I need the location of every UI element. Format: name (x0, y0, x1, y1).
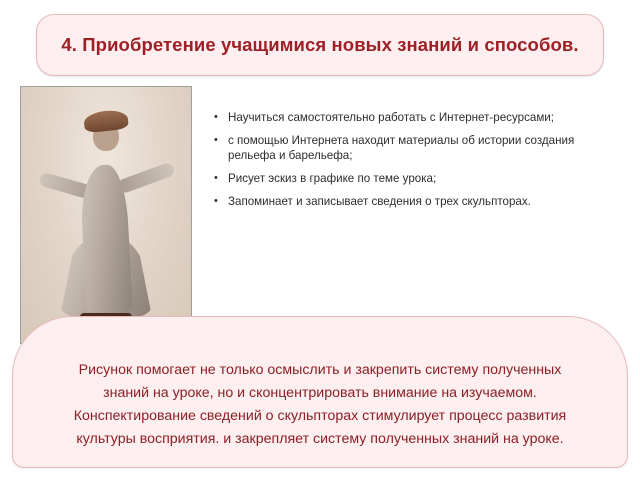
statue-arm-right-shape (116, 162, 175, 195)
summary-callout-text: Рисунок помогает не только осмыслить и з… (40, 333, 600, 451)
list-item: • Запоминает и записывает сведения о тре… (214, 194, 586, 209)
statue-photo-image (21, 87, 191, 343)
statue-hat-shape (83, 109, 129, 133)
title-banner: 4. Приобретение учащимися новых знаний и… (36, 14, 604, 76)
list-item: • Рисует эскиз в графике по теме урока; (214, 171, 586, 186)
list-item-text: Запоминает и записывает сведения о трех … (228, 194, 586, 209)
bullet-icon: • (214, 110, 228, 125)
summary-line-1: Рисунок помогает не только осмыслить и з… (40, 359, 600, 382)
bullet-icon: • (214, 194, 228, 209)
list-item-text: Научиться самостоятельно работать с Инте… (228, 110, 586, 125)
page-title: 4. Приобретение учащимися новых знаний и… (47, 34, 592, 56)
list-item: • Научиться самостоятельно работать с Ин… (214, 110, 586, 125)
list-item-text: с помощью Интернета находит материалы об… (228, 133, 586, 163)
summary-line-3: Конспектирование сведений о скульпторах … (40, 405, 600, 428)
summary-line-2: знаний на уроке, но и сконцентрировать в… (40, 382, 600, 405)
statue-photo (20, 86, 192, 344)
list-item: • с помощью Интернета находит материалы … (214, 133, 586, 163)
summary-callout: Рисунок помогает не только осмыслить и з… (12, 316, 628, 468)
slide-canvas: 4. Приобретение учащимися новых знаний и… (0, 0, 640, 480)
bullet-list: • Научиться самостоятельно работать с Ин… (214, 110, 586, 217)
summary-line-4: культуры восприятия. и закрепляет систем… (40, 428, 600, 451)
bullet-icon: • (214, 171, 228, 186)
list-item-text: Рисует эскиз в графике по теме урока; (228, 171, 586, 186)
bullet-icon: • (214, 133, 228, 148)
